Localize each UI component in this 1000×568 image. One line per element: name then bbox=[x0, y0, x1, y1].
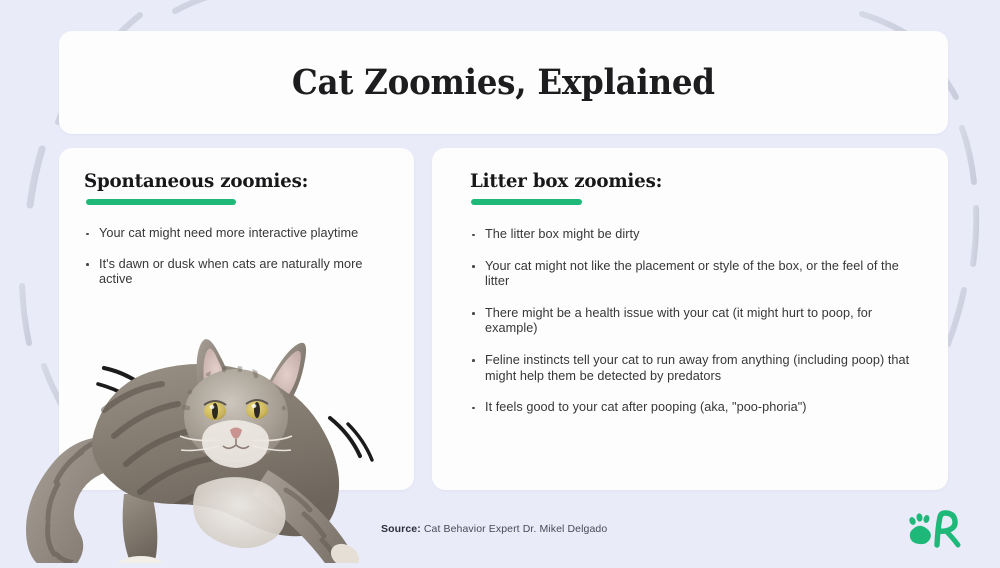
title-card: Cat Zoomies, Explained bbox=[59, 31, 948, 134]
cat-eye bbox=[204, 401, 226, 420]
list-item: Feline instincts tell your cat to run aw… bbox=[470, 353, 917, 384]
list-item: Your cat might need more interactive pla… bbox=[84, 226, 389, 242]
source-text: Cat Behavior Expert Dr. Mikel Delgado bbox=[424, 523, 607, 535]
logo-letter-r bbox=[937, 513, 958, 545]
cat-eye bbox=[246, 400, 268, 419]
card-litter-box-zoomies: Litter box zoomies: The litter box might… bbox=[432, 148, 948, 490]
list-item: The litter box might be dirty bbox=[470, 227, 917, 243]
list-item: It's dawn or dusk when cats are naturall… bbox=[84, 257, 389, 288]
infographic-canvas: Cat Zoomies, Explained Spontaneous zoomi… bbox=[0, 0, 1000, 563]
source-label: Source: bbox=[381, 523, 421, 535]
cat-illustration bbox=[0, 318, 400, 563]
list-item: There might be a health issue with your … bbox=[470, 306, 917, 337]
paw-print-icon bbox=[908, 513, 931, 544]
page-title: Cat Zoomies, Explained bbox=[292, 62, 715, 103]
heading-underline bbox=[86, 199, 236, 205]
list-item: It feels good to your cat after pooping … bbox=[470, 400, 917, 416]
list-item: Your cat might not like the placement or… bbox=[470, 259, 917, 290]
bullet-list-spontaneous: Your cat might need more interactive pla… bbox=[84, 226, 394, 288]
brand-logo[interactable] bbox=[906, 508, 964, 552]
motion-line bbox=[330, 418, 372, 460]
card-heading: Litter box zoomies: bbox=[470, 170, 904, 192]
bullet-list-litter-box: The litter box might be dirty Your cat m… bbox=[470, 227, 922, 416]
source-attribution: Source: Cat Behavior Expert Dr. Mikel De… bbox=[381, 523, 607, 535]
heading-underline bbox=[471, 199, 582, 205]
card-heading: Spontaneous zoomies: bbox=[84, 170, 382, 192]
